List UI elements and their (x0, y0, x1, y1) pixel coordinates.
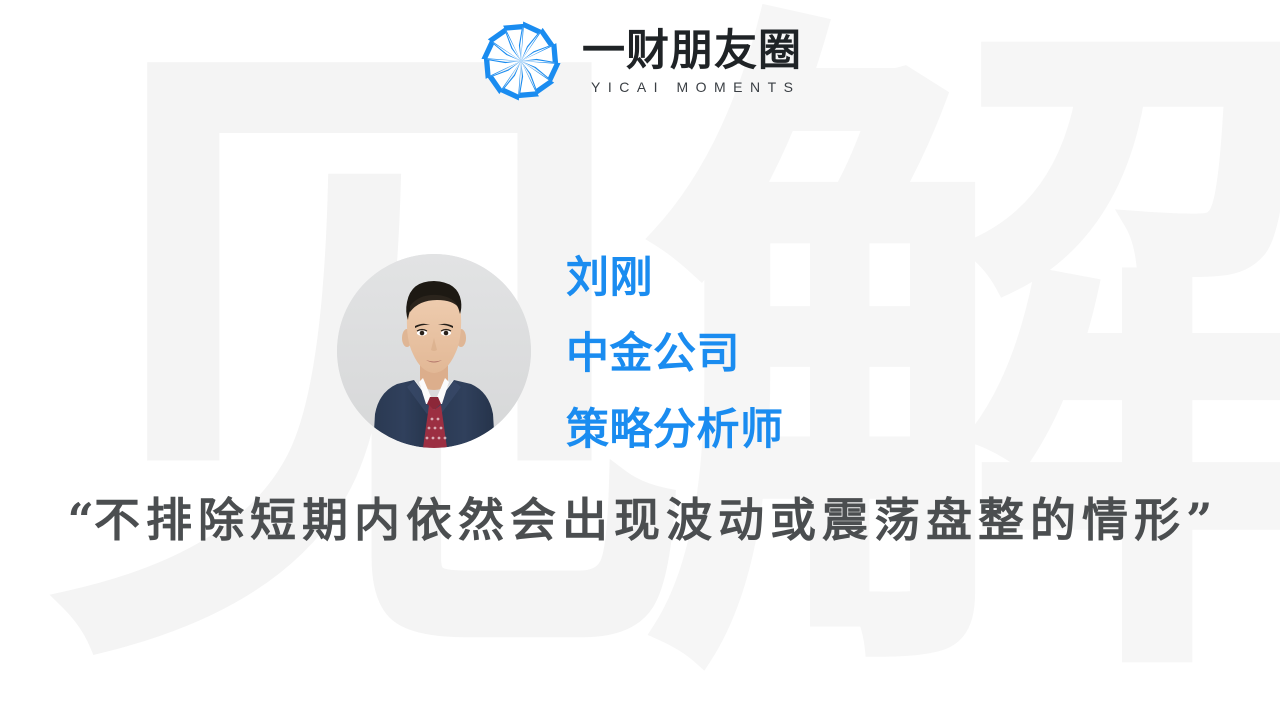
brand-name-cn: 一财朋友圈 (582, 29, 802, 74)
speaker-name: 刘刚 (566, 240, 784, 316)
speaker-title: 策略分析师 (566, 392, 784, 468)
speaker-info: 刘刚 中金公司 策略分析师 (566, 240, 784, 468)
pull-quote: “ 不排除短期内依然会出现波动或震荡盘整的情形 ” (0, 488, 1280, 552)
quote-close-mark: ” (1186, 488, 1212, 552)
portrait-photo (337, 254, 531, 448)
brand-lockup: 一财朋友圈 YICAI MOMENTS (478, 18, 802, 104)
slide-canvas: 见 解 (0, 0, 1280, 720)
brand-header: 一财朋友圈 YICAI MOMENTS (0, 18, 1280, 104)
avatar (337, 254, 531, 448)
speaker-organization: 中金公司 (566, 316, 784, 392)
yicai-pinwheel-logo-icon (478, 18, 564, 104)
quote-open-mark: “ (68, 488, 94, 552)
brand-wordmark: 一财朋友圈 YICAI MOMENTS (582, 27, 802, 95)
quote-text: 不排除短期内依然会出现波动或震荡盘整的情形 (94, 488, 1186, 552)
brand-name-en: YICAI MOMENTS (583, 79, 800, 95)
